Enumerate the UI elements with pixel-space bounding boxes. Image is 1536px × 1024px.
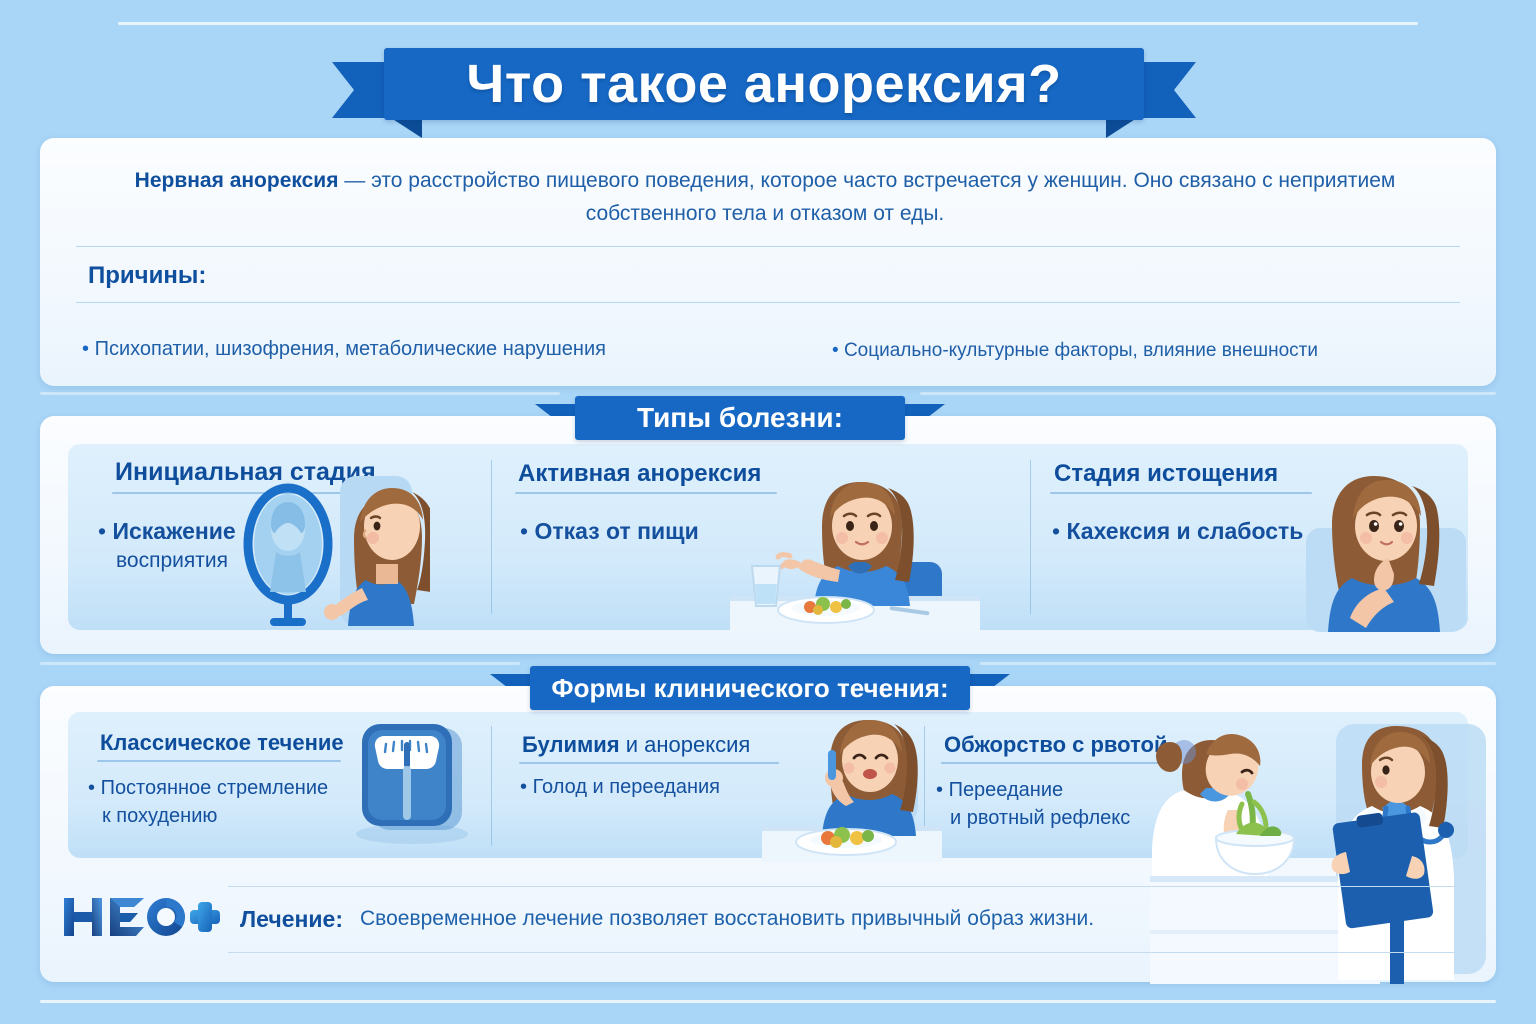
form-card-3-bullet-line1: Переедание <box>949 779 1064 801</box>
treatment-text: Своевременное лечение позволяет восстано… <box>360 907 1094 931</box>
bullet-dot: • <box>82 338 89 360</box>
footer-divider-bottom <box>228 952 1458 953</box>
page-title: Что такое анорексия? <box>384 48 1144 120</box>
form-card-3-bullet: • Переедание и рвотный рефлекс <box>936 776 1130 832</box>
causes-heading: Причины: <box>88 262 206 290</box>
type-card-1-bullet-line1: Искажение <box>112 518 235 544</box>
bullet-dot: • <box>936 779 949 801</box>
card-divider-2 <box>1030 460 1031 614</box>
form-card-2-heading-bold: Булимия <box>522 732 620 757</box>
form-card-2-heading: Булимия и анорексия <box>522 732 750 758</box>
type-card-3-bullet-line1: Кахексия и слабость <box>1066 518 1303 544</box>
type-card-3-underline <box>1050 492 1312 494</box>
cause-item-2: • Социально-культурные факторы, влияние … <box>832 340 1318 362</box>
bullet-dot: • <box>520 518 534 544</box>
type-card-2-heading: Активная анорексия <box>518 460 761 488</box>
types-banner: Типы болезни: <box>575 396 905 440</box>
exhausted-woman-illustration <box>1300 468 1480 632</box>
bg-hairline-bottom <box>40 1000 1496 1003</box>
bullet-dot: • <box>88 777 101 799</box>
form-card-2-bullet-line1: Голод и переедания <box>533 776 720 798</box>
neo-plus-logo <box>62 894 222 940</box>
footer-divider-top <box>228 886 1458 887</box>
form-card-2-bullet: • Голод и переедания <box>520 776 720 799</box>
form-card-1-underline <box>97 760 341 762</box>
form-card-2-heading-thin: и анорексия <box>620 732 751 757</box>
form-card-2-underline <box>519 762 779 764</box>
forms-banner-label: Формы клинического течения: <box>530 666 970 710</box>
cause-item-1: • Психопатии, шизофрения, метаболические… <box>82 338 606 361</box>
card-divider-1 <box>491 726 492 846</box>
types-banner-label: Типы болезни: <box>575 396 905 440</box>
cause-item-1-text: Психопатии, шизофрения, метаболические н… <box>95 338 606 360</box>
intro-paragraph: Нервная анорексия — это расстройство пищ… <box>100 164 1430 230</box>
type-card-3-bullet: • Кахексия и слабость <box>1052 518 1303 545</box>
bg-hairline-mid-d <box>980 662 1496 665</box>
type-card-1-bullet: • Искажение восприятия <box>98 516 236 576</box>
form-card-1-heading: Классическое течение <box>100 730 344 756</box>
treatment-label: Лечение: <box>240 906 343 933</box>
bullet-dot: • <box>832 340 839 361</box>
intro-panel: Нервная анорексия — это расстройство пищ… <box>40 138 1496 386</box>
type-card-2-bullet-line1: Отказ от пищи <box>534 518 698 544</box>
type-card-3-heading: Стадия истощения <box>1054 460 1278 488</box>
title-banner: Что такое анорексия? <box>384 48 1144 120</box>
type-card-2-bullet: • Отказ от пищи <box>520 518 699 545</box>
card-divider-1 <box>491 460 492 614</box>
intro-body: это расстройство пищевого поведения, кот… <box>371 169 1395 225</box>
refusing-meal-illustration <box>730 470 980 632</box>
bg-hairline-mid-c <box>40 662 520 665</box>
bullet-dot: • <box>1052 518 1066 544</box>
form-card-3-underline <box>941 762 1163 764</box>
cause-item-2-text: Социально-культурные факторы, влияние вн… <box>844 340 1318 361</box>
vomiting-illustration <box>1150 716 1500 984</box>
form-card-3-bullet-line2: и рвотный рефлекс <box>936 804 1130 832</box>
mirror-reflection-illustration <box>240 468 430 630</box>
bullet-dot: • <box>520 776 533 798</box>
forms-banner: Формы клинического течения: <box>530 666 970 710</box>
form-card-3-heading: Обжорство с рвотой <box>944 732 1168 758</box>
overeating-illustration <box>762 714 942 862</box>
form-card-1-bullet-line1: Постоянное стремление <box>101 777 329 799</box>
intro-lead: Нервная анорексия <box>135 169 339 192</box>
bg-hairline-mid-a <box>40 392 560 395</box>
intro-divider-1 <box>76 246 1460 247</box>
form-card-1-bullet: • Постоянное стремление к похудению <box>88 774 328 830</box>
type-card-1-bullet-line2: восприятия <box>98 546 236 576</box>
intro-dash: — <box>338 169 371 192</box>
bg-hairline-top <box>118 22 1418 25</box>
bullet-dot: • <box>98 518 112 544</box>
form-card-1-bullet-line2: к похудению <box>88 802 328 830</box>
intro-divider-2 <box>76 302 1460 303</box>
infographic-canvas: Что такое анорексия? Нервная анорексия —… <box>0 0 1536 1024</box>
bathroom-scale-icon <box>348 718 480 846</box>
bg-hairline-mid-b <box>920 392 1496 395</box>
